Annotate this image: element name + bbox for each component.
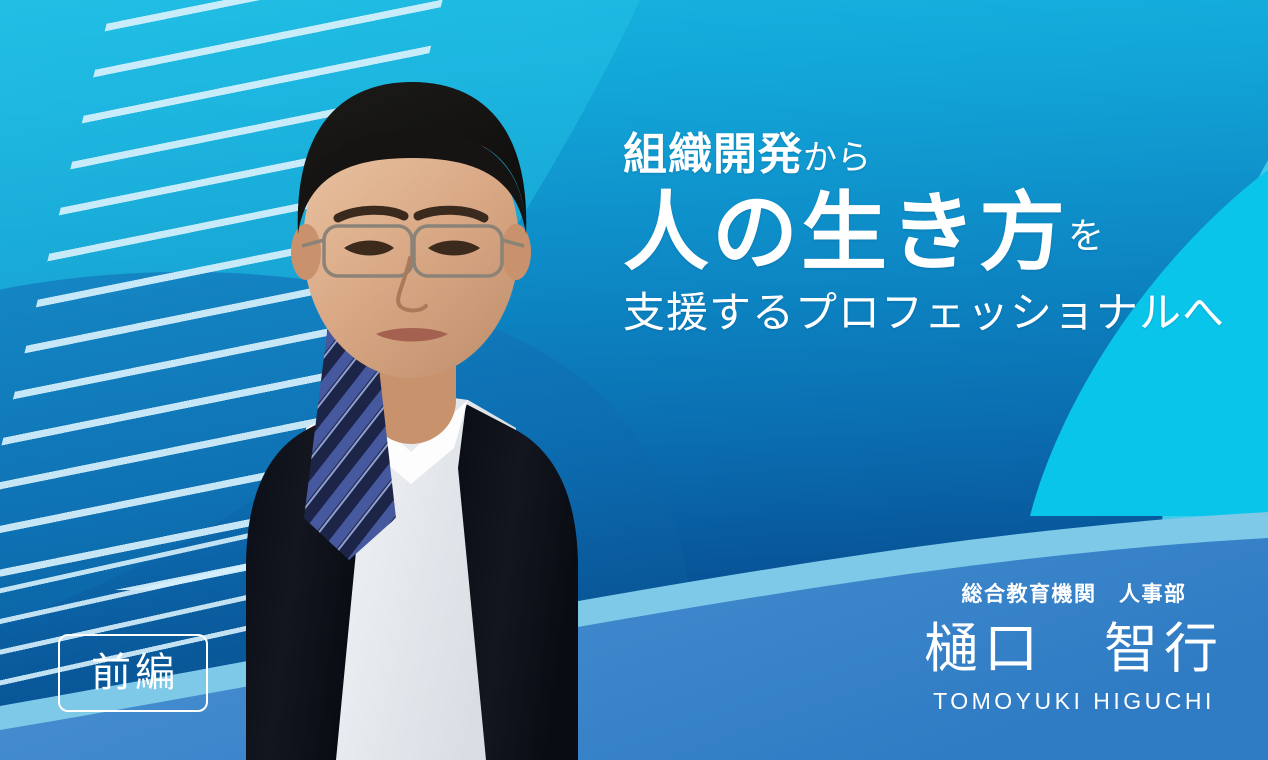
- headline-line-1: 組織開発から: [623, 130, 1223, 181]
- profile-name-japanese: 樋口 智行: [924, 620, 1224, 678]
- headline: 組織開発から 人の生き方を 支援するプロフェッショナルへ: [623, 130, 1223, 338]
- interview-hero-banner: 組織開発から 人の生き方を 支援するプロフェッショナルへ 前編 総合教育機関 人…: [0, 0, 1268, 760]
- headline-line-3: 支援するプロフェッショナルへ: [623, 288, 1223, 338]
- headline-line-2-main: 人の生き方: [623, 185, 1068, 281]
- headline-line-1-suffix: から: [803, 139, 871, 177]
- portrait-ear-left: [291, 224, 321, 280]
- profile-name-block: 総合教育機関 人事部 樋口 智行 TOMOYUKI HIGUCHI: [924, 578, 1224, 715]
- portrait-photo: [186, 48, 636, 760]
- headline-line-1-main: 組織開発: [623, 130, 803, 179]
- profile-name-romaji: TOMOYUKI HIGUCHI: [924, 688, 1224, 715]
- part-badge: 前編: [58, 634, 208, 712]
- headline-line-2: 人の生き方を: [623, 183, 1223, 284]
- profile-affiliation: 総合教育機関 人事部: [924, 578, 1224, 608]
- portrait-svg: [186, 48, 636, 760]
- portrait-ear-right: [501, 224, 531, 280]
- headline-line-2-suffix: を: [1068, 215, 1104, 256]
